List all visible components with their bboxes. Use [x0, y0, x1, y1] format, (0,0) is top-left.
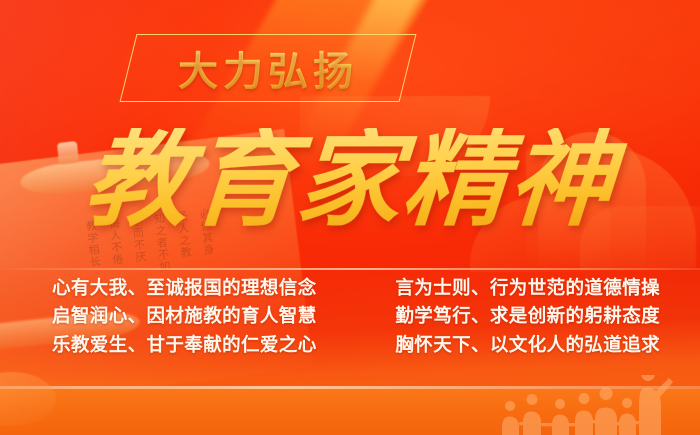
slogan-text: 乐教爱生、甘于奉献的仁爱之心 [52, 335, 317, 356]
slogan-text: 胸怀天下、以文化人的弘道追求 [395, 335, 660, 356]
slogan-row: 乐教爱生、甘于奉献的仁爱之心 胸怀天下、以文化人的弘道追求 [52, 335, 660, 356]
slogan-row: 启智润心、因材施教的育人智慧 勤学笃行、求是创新的躬耕态度 [52, 306, 660, 327]
teacher-and-children-silhouette-icon [462, 375, 682, 435]
slogan-text: 言为士则、行为世范的道德情操 [395, 278, 660, 299]
slogan-text: 心有大我、至诚报国的理想信念 [52, 278, 317, 299]
poster-banner: 必修其身 圣人之教 知之者不如 学而不厌 诲人不倦 教学相长 大力弘扬 教育家精… [0, 0, 700, 435]
kicker-text: 大力弘扬 [128, 34, 408, 102]
slogan-row: 心有大我、至诚报国的理想信念 言为士则、行为世范的道德情操 [52, 278, 660, 299]
page-title: 教育家精神 [0, 128, 700, 232]
slogan-text: 启智润心、因材施教的育人智慧 [52, 306, 317, 327]
slogan-text: 勤学笃行、求是创新的躬耕态度 [395, 306, 660, 327]
slogan-list: 心有大我、至诚报国的理想信念 言为士则、行为世范的道德情操 启智润心、因材施教的… [52, 278, 660, 356]
